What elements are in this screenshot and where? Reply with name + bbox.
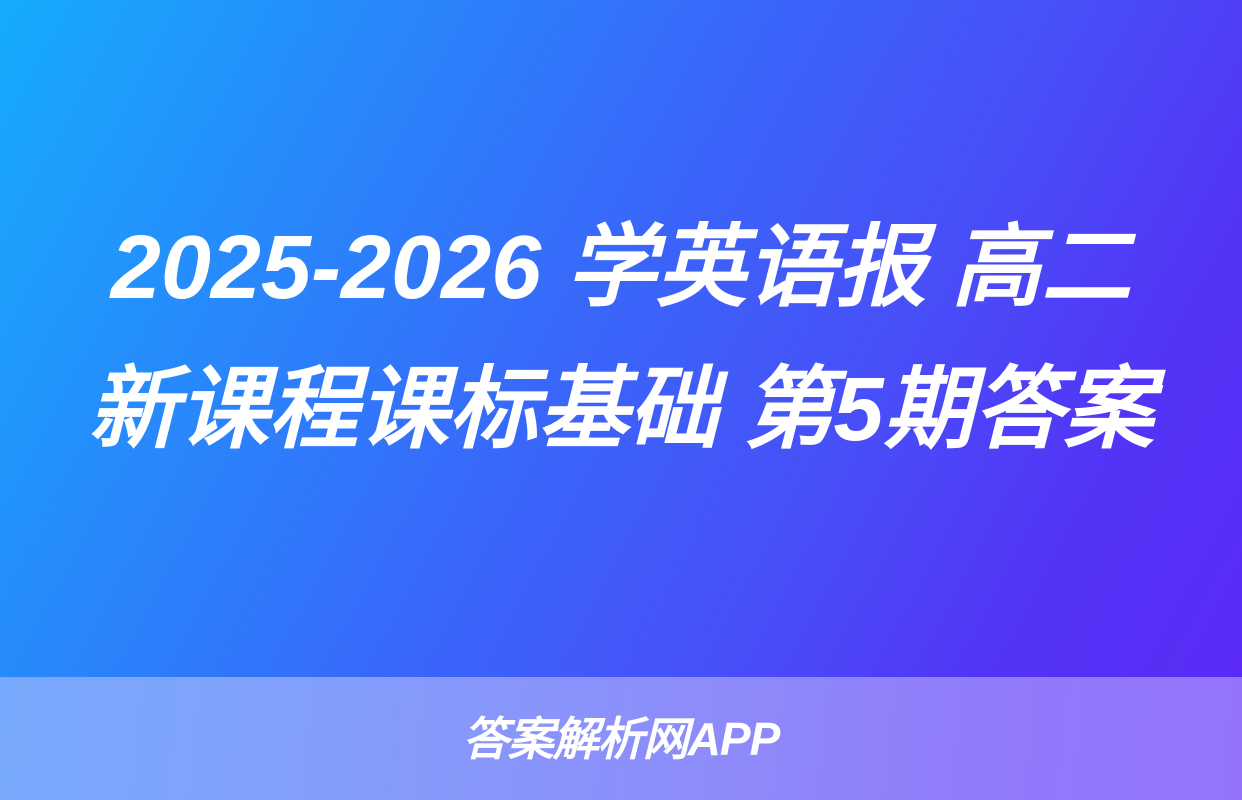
brand-watermark: 答案解析网APP: [463, 716, 780, 762]
answer-key-poster: 2025-2026 学英语报 高二 新课程课标基础 第5期答案 答案解析网APP: [0, 0, 1242, 800]
page-title: 2025-2026 学英语报 高二 新课程课标基础 第5期答案: [71, 197, 1171, 481]
footer-watermark-band: 答案解析网APP: [0, 677, 1242, 800]
hero-content-area: 2025-2026 学英语报 高二 新课程课标基础 第5期答案: [0, 0, 1242, 677]
